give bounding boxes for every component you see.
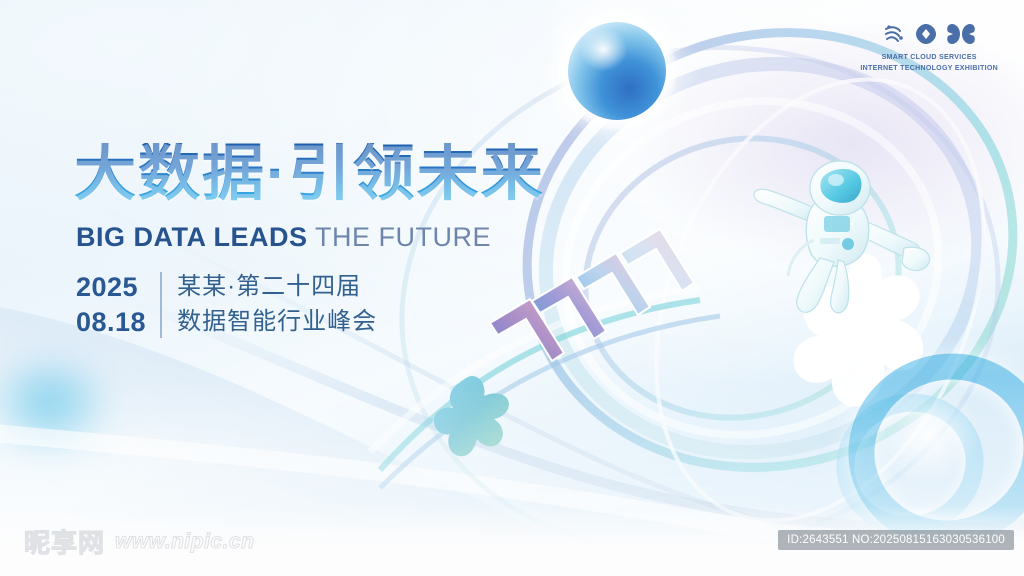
event-year: 2025 <box>76 270 146 305</box>
logo-caption-line1: SMART CLOUD SERVICES <box>860 52 998 63</box>
event-name-line2: 数据智能行业峰会 <box>177 305 377 340</box>
logo-marks <box>856 22 1002 46</box>
double-chevron-icon <box>947 23 975 45</box>
decor-arrows <box>480 215 730 375</box>
swirl-lines-icon <box>883 23 905 45</box>
event-name-line1: 某某·第二十四届 <box>177 270 377 305</box>
status-badge: ID:2643551 NO:20250815163030536100 <box>778 530 1014 550</box>
event-date: 2025 08.18 <box>76 270 160 340</box>
event-day: 08.18 <box>76 305 146 340</box>
subtitle-light: THE FUTURE <box>315 222 491 252</box>
decor-astronaut <box>728 150 958 330</box>
subtitle: BIG DATA LEADS THE FUTURE <box>76 222 491 253</box>
event-name: 某某·第二十四届 数据智能行业峰会 <box>162 270 377 340</box>
logo-caption-line2: INTERNET TECHNOLOGY EXHIBITION <box>860 63 998 74</box>
diamond-outline-icon <box>914 22 938 46</box>
brand-logo: SMART CLOUD SERVICES INTERNET TECHNOLOGY… <box>856 22 1002 74</box>
logo-caption: SMART CLOUD SERVICES INTERNET TECHNOLOGY… <box>860 52 998 74</box>
page-title: 大数据·引领未来 <box>74 143 545 205</box>
event-meta: 2025 08.18 某某·第二十四届 数据智能行业峰会 <box>76 270 377 340</box>
watermark-url: www.nipic.cn <box>115 530 254 554</box>
poster-canvas: 大数据·引领未来 BIG DATA LEADS THE FUTURE 2025 … <box>0 0 1024 576</box>
subtitle-bold: BIG DATA LEADS <box>76 222 308 252</box>
watermark-brand: 昵享网 <box>24 523 105 560</box>
decor-sphere <box>568 22 666 120</box>
watermark: 昵享网 www.nipic.cn <box>24 523 254 560</box>
